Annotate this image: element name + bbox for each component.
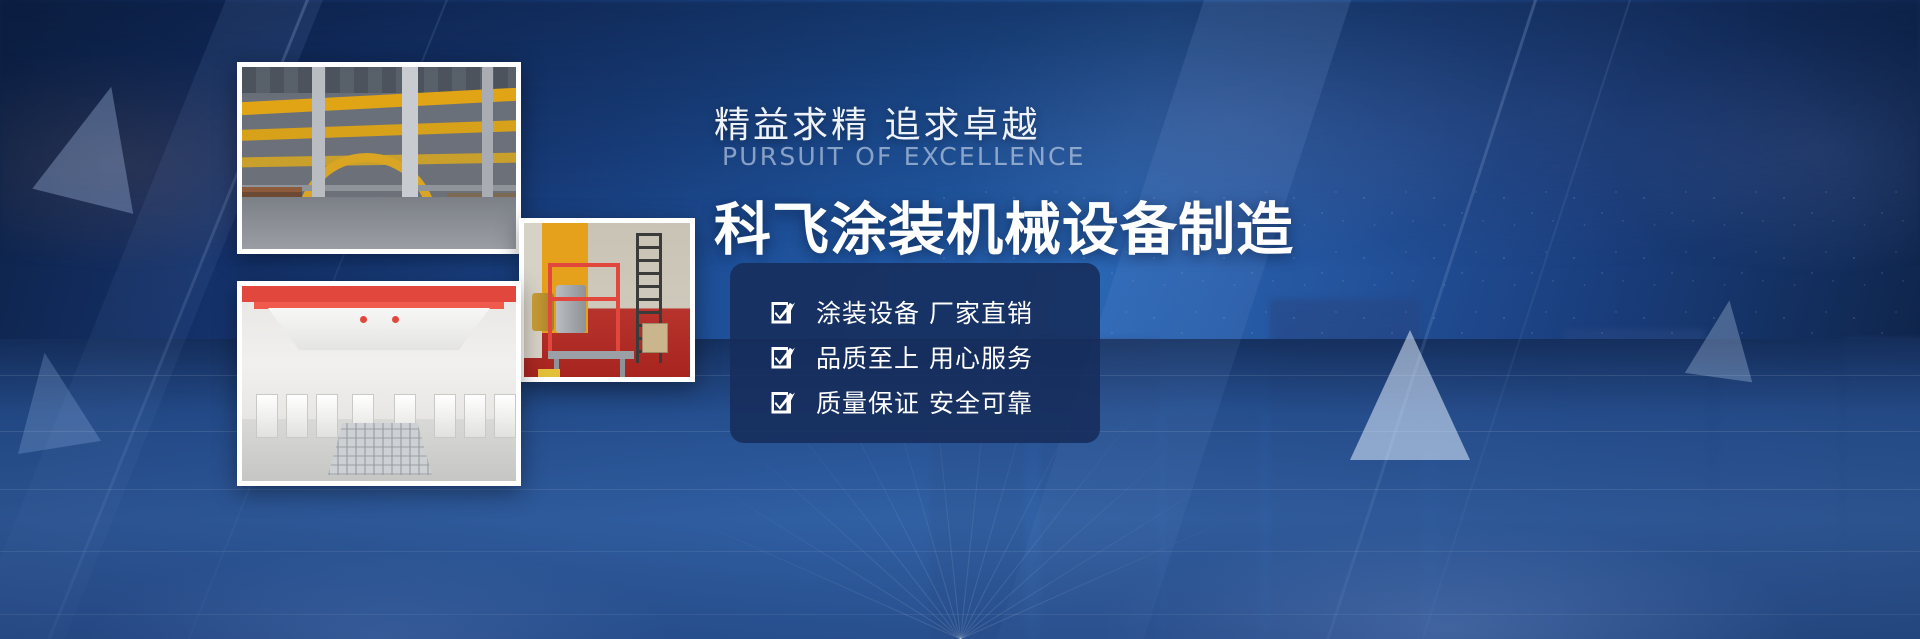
feature-label: 质量保证 安全可靠 <box>816 384 1033 420</box>
tagline-english: PURSUIT OF EXCELLENCE <box>722 142 1086 171</box>
photo-collage <box>0 0 760 639</box>
feature-item: 品质至上 用心服务 <box>770 334 1100 379</box>
tagline-chinese: 精益求精 追求卓越 <box>714 96 1040 148</box>
decorative-triangle-4 <box>1685 296 1763 383</box>
feature-label: 品质至上 用心服务 <box>816 339 1033 375</box>
feature-label: 涂装设备 厂家直销 <box>816 294 1033 330</box>
spray-booth-interior-photo <box>237 281 521 486</box>
banner-copy: 精益求精 追求卓越 PURSUIT OF EXCELLENCE 科飞涂装机械设备… <box>714 0 1274 639</box>
checkbox-checked-icon <box>770 299 796 325</box>
checkbox-checked-icon <box>770 344 796 370</box>
factory-conveyor-photo <box>237 62 521 254</box>
feature-list-card: 涂装设备 厂家直销 品质至上 用心服务 <box>730 263 1100 443</box>
checkbox-checked-icon <box>770 389 796 415</box>
feature-item: 质量保证 安全可靠 <box>770 379 1100 424</box>
workshop-machinery-photo <box>519 218 695 382</box>
feature-item: 涂装设备 厂家直销 <box>770 289 1100 334</box>
headline-title: 科飞涂装机械设备制造 <box>714 184 1294 266</box>
promo-banner: 精益求精 追求卓越 PURSUIT OF EXCELLENCE 科飞涂装机械设备… <box>0 0 1920 639</box>
decorative-triangle-3 <box>1350 330 1470 460</box>
